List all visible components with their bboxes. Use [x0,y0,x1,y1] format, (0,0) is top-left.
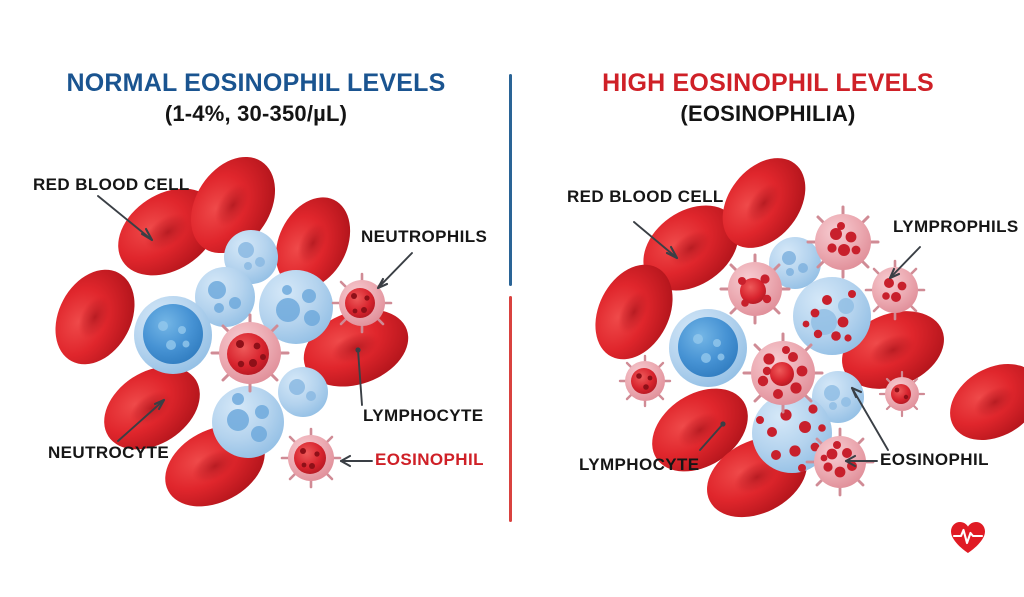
callout-right-lymphocyte: LYMPHOCYTE [579,455,700,475]
leader-left-lymphocyte [355,347,362,405]
eosinophil-cell [620,356,670,406]
left-panel-title: NORMAL EOSINOPHIL LEVELS [0,68,512,98]
red-blood-cell [936,349,1024,456]
eosinophil-cell [212,315,288,391]
red-blood-cell [293,296,419,401]
left-panel-subtitle: (1-4%, 30-350/µL) [0,100,512,128]
lymphocyte-cell [212,386,284,458]
divider-red-segment [509,296,512,522]
eosinophil-cell [721,255,789,323]
eosinophil-cell [808,207,878,277]
red-blood-cell [174,141,293,269]
leader-right-eosinophil [846,456,877,466]
red-blood-cell [830,297,955,403]
leader-right-eosinophil-upper [852,388,888,450]
eosinophil-cell [282,429,340,487]
leader-right-rbc [634,222,677,258]
callout-right-red-blood-cell: RED BLOOD CELL [567,187,724,207]
callout-left-eosinophil: EOSINOPHIL [375,450,484,470]
lymphocyte-cell-with-granules [752,393,832,473]
lymphocyte-cell [259,270,333,344]
red-blood-cell [151,409,278,522]
red-blood-cell [40,256,151,378]
leader-left-neutrophils [378,253,412,288]
red-blood-cell [693,421,820,533]
eosinophil-cell [333,274,391,332]
leader-right-lymphocyte [700,421,726,450]
lymphocyte-cell-with-granules [793,277,871,355]
red-blood-cell [261,185,364,301]
divider-blue-segment [509,74,512,286]
right-panel-subtitle: (EOSINOPHILIA) [512,100,1024,128]
callout-left-neutrocyte: NEUTROCYTE [48,443,169,463]
lymphocyte-cell [278,367,328,417]
callout-left-red-blood-cell: RED BLOOD CELL [33,175,190,195]
lymphocyte-cell [769,237,821,289]
callout-left-lymphocyte: LYMPHOCYTE [363,406,484,426]
monocyte-cell [669,309,747,387]
monocyte-cell [134,296,212,374]
eosinophil-cell [866,261,924,319]
lymphocyte-cell [224,230,278,284]
callout-left-neutrophils: NEUTROPHILS [361,227,487,247]
infographic-canvas: NORMAL EOSINOPHIL LEVELS (1-4%, 30-350/µ… [0,0,1024,597]
leader-left-rbc [98,196,152,240]
red-blood-cell [580,252,688,373]
eosinophil-cell [807,429,873,495]
leader-right-lymprophils [890,247,920,278]
eosinophil-cell [744,334,822,412]
right-panel-title: HIGH EOSINOPHIL LEVELS [512,68,1024,98]
lymphocyte-cell [812,371,864,423]
eosinophil-cell [870,246,872,248]
heart-pulse-logo [948,518,988,556]
callout-right-lymprophils: LYMPROPHILS [893,217,1019,237]
left-panel-cells [40,141,419,522]
lymphocyte-cell [195,267,255,327]
eosinophil-cell [880,372,924,416]
leader-left-neutrocyte [118,400,164,441]
callout-right-eosinophil: EOSINOPHIL [880,450,989,470]
leader-left-eosinophil [341,456,372,466]
